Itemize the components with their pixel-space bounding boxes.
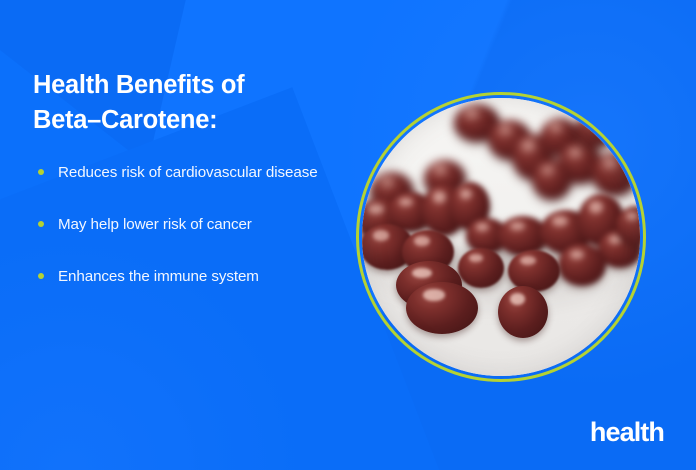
bullet-dot-icon: [38, 273, 44, 279]
bullet-dot-icon: [38, 221, 44, 227]
list-item-label: May help lower risk of cancer: [58, 216, 252, 233]
bullet-dot-icon: [38, 169, 44, 175]
capsule: [508, 250, 560, 292]
capsule: [458, 248, 504, 288]
capsule: [558, 244, 606, 286]
list-item: Reduces risk of cardiovascular disease: [33, 162, 355, 184]
benefits-list: Reduces risk of cardiovascular disease M…: [33, 162, 355, 289]
capsule: [592, 152, 638, 196]
capsule: [532, 160, 572, 200]
list-item: May help lower risk of cancer: [33, 214, 355, 236]
capsule: [406, 282, 478, 334]
capsule: [576, 112, 616, 148]
capsule-photo: [362, 98, 640, 376]
list-item-label: Reduces risk of cardiovascular disease: [58, 164, 318, 181]
list-item: Enhances the immune system: [33, 266, 355, 288]
capsule-photo-ring: [356, 92, 646, 382]
capsule: [498, 286, 548, 338]
page-title: Health Benefits of Beta–Carotene:: [33, 68, 333, 137]
brand-logo: health: [590, 417, 664, 448]
infographic-poster: Health Benefits of Beta–Carotene: Reduce…: [0, 0, 696, 470]
list-item-label: Enhances the immune system: [58, 268, 259, 285]
text-column: Health Benefits of Beta–Carotene: Reduce…: [0, 0, 360, 470]
